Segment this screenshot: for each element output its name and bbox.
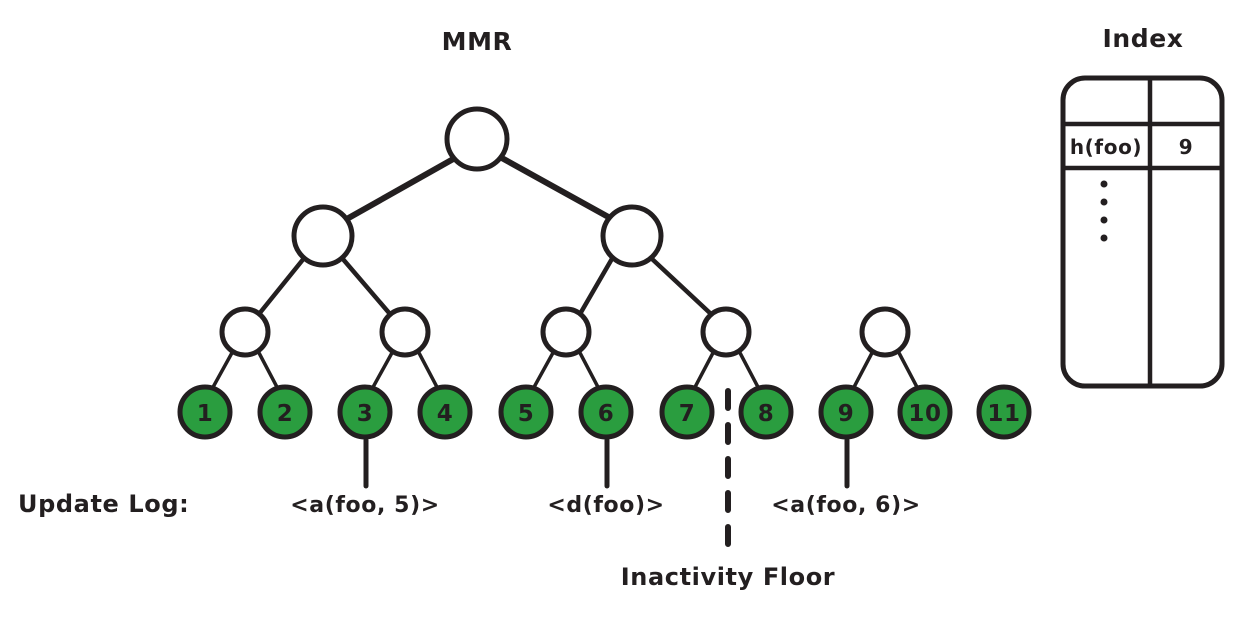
ellipsis-dot-3 (1101, 217, 1108, 224)
internal-nodes (222, 109, 908, 355)
edge-n4-leaf8 (739, 351, 759, 389)
node-level1-1 (222, 309, 268, 355)
leaf-label-10: 10 (908, 401, 941, 427)
edge-n1-leaf1 (212, 351, 233, 389)
edge-n1-leaf2 (258, 351, 278, 389)
leaf-label-8: 8 (758, 401, 775, 427)
inactivity-floor-label: Inactivity Floor (621, 563, 836, 591)
edge-l2b-right (651, 258, 711, 314)
ellipsis-dot-1 (1101, 181, 1108, 188)
edge-n3-leaf5 (533, 351, 554, 389)
leaf-label-1: 1 (197, 401, 214, 427)
update-log: Update Log: <a(foo, 5)> <d(foo)> <a(foo,… (18, 440, 921, 518)
leaf-label-2: 2 (277, 401, 294, 427)
node-level1-2 (382, 309, 428, 355)
update-log-entry-2: <d(foo)> (547, 493, 664, 518)
edge-l2b-left (580, 257, 613, 314)
leaf-nodes: 1 2 3 4 5 6 7 8 9 10 11 (180, 387, 1029, 437)
node-level2-left (294, 207, 352, 265)
edge-root-right (500, 157, 612, 219)
mmr-title: MMR (442, 27, 513, 56)
node-level1-5 (862, 309, 908, 355)
edge-n2-leaf3 (372, 351, 393, 389)
leaf-label-7: 7 (679, 401, 696, 427)
index-cell-value: 9 (1179, 135, 1194, 159)
ellipsis-dot-2 (1101, 199, 1108, 206)
edge-n3-leaf6 (579, 351, 599, 389)
diagram-canvas: MMR (0, 0, 1241, 622)
index-cell-key: h(foo) (1070, 135, 1142, 159)
node-level1-4 (703, 309, 749, 355)
node-root (447, 109, 507, 169)
edge-n4-leaf7 (694, 351, 714, 389)
edge-n5-leaf9 (853, 351, 873, 389)
leaf-label-11: 11 (987, 401, 1020, 427)
leaf-label-4: 4 (437, 401, 454, 427)
edge-l2a-right (342, 258, 390, 314)
edge-n5-leaf10 (898, 351, 918, 389)
ellipsis-dot-4 (1101, 235, 1108, 242)
inactivity-floor: Inactivity Floor (621, 391, 836, 591)
update-log-entry-3: <a(foo, 6)> (771, 493, 921, 518)
leaf-label-5: 5 (518, 401, 535, 427)
edge-root-left (345, 158, 455, 220)
mmr-diagram: MMR (0, 0, 1241, 622)
leaf-label-6: 6 (598, 401, 615, 427)
edge-n2-leaf4 (418, 351, 438, 389)
update-log-entry-1: <a(foo, 5)> (290, 493, 440, 518)
leaf-label-3: 3 (357, 401, 374, 427)
index-title: Index (1102, 24, 1183, 53)
update-log-label: Update Log: (18, 490, 189, 518)
index-table: Index h(foo) 9 (1063, 24, 1222, 386)
leaf-label-9: 9 (838, 401, 855, 427)
edge-l2a-left (259, 257, 305, 314)
node-level1-3 (543, 309, 589, 355)
node-level2-right (603, 207, 661, 265)
